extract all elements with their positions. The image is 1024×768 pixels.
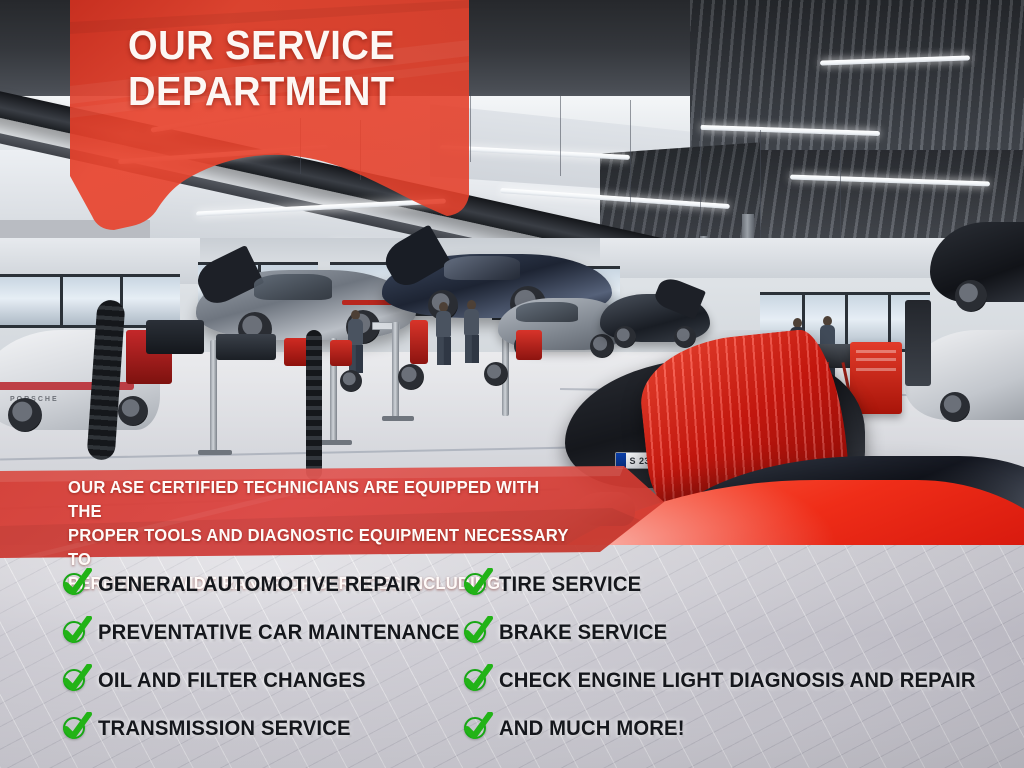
- list-item-label: TIRE SERVICE: [499, 572, 641, 597]
- green-check-circle-icon: [62, 619, 88, 645]
- car-wheel: [8, 398, 42, 432]
- car-wheel: [955, 280, 987, 312]
- lift-base: [320, 440, 352, 445]
- list-item-label: PREVENTATIVE CAR MAINTENANCE: [98, 620, 460, 645]
- lift-post: [392, 322, 399, 418]
- hanger-rod: [840, 150, 841, 240]
- tool-cart-red: [330, 340, 352, 366]
- list-item-label: BRAKE SERVICE: [499, 620, 667, 645]
- tool-cart-red: [410, 320, 428, 364]
- list-item-label: AND MUCH MORE!: [499, 716, 685, 741]
- list-item: PREVENTATIVE CAR MAINTENANCE: [62, 608, 483, 656]
- green-check-circle-icon: [463, 667, 489, 693]
- hanger-rod: [630, 100, 631, 210]
- hanger-rod: [560, 96, 561, 176]
- list-item: TIRE SERVICE: [463, 560, 1006, 608]
- header-banner: OUR SERVICE DEPARTMENT: [70, 0, 469, 231]
- description-band: OUR ASE CERTIFIED TECHNICIANS ARE EQUIPP…: [0, 466, 680, 562]
- list-item: TRANSMISSION SERVICE: [62, 704, 483, 752]
- list-item: AND MUCH MORE!: [463, 704, 1006, 752]
- tool-box: [216, 334, 276, 360]
- list-item: CHECK ENGINE LIGHT DIAGNOSIS AND REPAIR: [463, 656, 1006, 704]
- list-item: GENERAL AUTOMOTIVE REPAIR: [62, 560, 483, 608]
- lift-base: [382, 416, 414, 421]
- service-department-graphic: PORSCHE: [0, 0, 1024, 768]
- green-check-circle-icon: [62, 667, 88, 693]
- green-check-circle-icon: [463, 571, 489, 597]
- page-title: OUR SERVICE DEPARTMENT: [128, 22, 435, 114]
- lift-base: [198, 450, 232, 455]
- list-item: OIL AND FILTER CHANGES: [62, 656, 483, 704]
- service-list-right: TIRE SERVICE BRAKE SERVICE CHECK ENGINE …: [463, 560, 1006, 752]
- tool-box: [146, 320, 204, 354]
- list-item: BRAKE SERVICE: [463, 608, 1006, 656]
- green-check-circle-icon: [62, 571, 88, 597]
- hanger-rod: [760, 130, 761, 250]
- list-item-label: TRANSMISSION SERVICE: [98, 716, 351, 741]
- hanger-rod: [700, 110, 701, 240]
- list-item-label: OIL AND FILTER CHANGES: [98, 668, 366, 693]
- green-check-circle-icon: [62, 715, 88, 741]
- loose-tire: [340, 370, 362, 392]
- loose-tire: [398, 364, 424, 390]
- hanger-rod: [470, 92, 471, 162]
- list-item-label: CHECK ENGINE LIGHT DIAGNOSIS AND REPAIR: [499, 668, 976, 693]
- car-wheel: [118, 396, 148, 426]
- green-check-circle-icon: [463, 619, 489, 645]
- green-check-circle-icon: [463, 715, 489, 741]
- service-list-left: GENERAL AUTOMOTIVE REPAIR PREVENTATIVE C…: [62, 560, 483, 752]
- list-item-label: GENERAL AUTOMOTIVE REPAIR: [98, 572, 421, 597]
- coiled-hose: [306, 330, 322, 480]
